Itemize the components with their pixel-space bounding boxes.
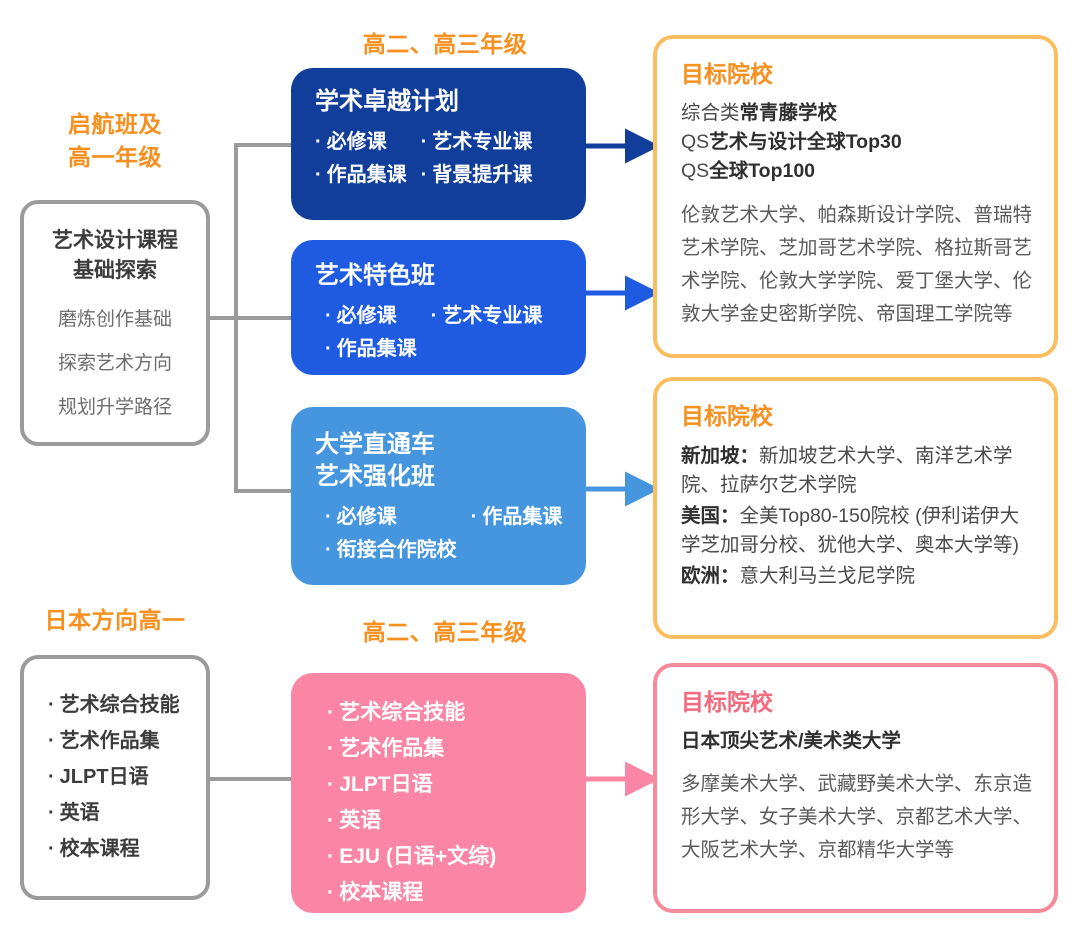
region-label: 欧洲：	[681, 565, 740, 587]
tier-strong: 艺术与设计全球Top30	[709, 131, 901, 153]
list-item: 艺术作品集	[48, 723, 206, 759]
tier-plain: QS	[681, 160, 709, 182]
program-title: 学术卓越计划	[315, 86, 586, 118]
list-item: 艺术综合技能	[48, 687, 206, 723]
target-panel-2[interactable]: 目标院校 新加坡：新加坡艺术大学、南洋艺术学院、拉萨尔艺术学院 美国：全美Top…	[653, 377, 1058, 639]
tier-plain: 综合类	[681, 102, 740, 124]
region-row: 欧洲：意大利马兰戈尼学院	[681, 562, 1032, 591]
program-course-list: 必修课 艺术专业课 作品集课 背景提升课	[315, 126, 586, 192]
list-item: JLPT日语	[48, 759, 206, 795]
course-item: 背景提升课	[421, 159, 533, 192]
foundation-point-0: 磨炼创作基础	[34, 298, 196, 342]
program-title: 艺术特色班	[315, 260, 586, 292]
target-tier-list: 综合类常青藤学校 QS艺术与设计全球Top30 QS全球Top100	[681, 99, 1032, 186]
region-row: 新加坡：新加坡艺术大学、南洋艺术学院、拉萨尔艺术学院	[681, 442, 1032, 500]
course-item: 衔接合作院校	[325, 534, 457, 567]
course-item: 必修课	[315, 126, 407, 159]
region-row: 美国：全美Top80-150院校 (伊利诺伊大学芝加哥分校、犹他大学、奥本大学等…	[681, 502, 1032, 560]
target-schools: 伦敦艺术大学、帕森斯设计学院、普瑞特艺术学院、芝加哥艺术学院、格拉斯哥艺术学院、…	[681, 199, 1032, 331]
list-item: 英语	[48, 795, 206, 831]
tier-row: QS艺术与设计全球Top30	[681, 128, 1032, 157]
course-item: 作品集课	[471, 501, 563, 534]
tier-row: QS全球Top100	[681, 157, 1032, 186]
japan-foundation-list: 艺术综合技能 艺术作品集 JLPT日语 英语 校本课程	[48, 687, 206, 867]
course-item: 必修课	[325, 501, 457, 534]
japan-program-list: 艺术综合技能 艺术作品集 JLPT日语 英语 EJU (日语+文综) 校本课程	[327, 695, 586, 911]
program-course-list: 必修课 作品集课 衔接合作院校	[315, 501, 586, 567]
region-text: 意大利马兰戈尼学院	[740, 565, 916, 587]
target-heading: 目标院校	[681, 401, 1032, 431]
tier-plain: QS	[681, 131, 709, 153]
stage-label-left-top: 启航班及 高一年级	[20, 108, 210, 174]
program-course-list: 必修课 艺术专业课 作品集课	[315, 300, 586, 366]
target-heading: 目标院校	[681, 59, 1032, 89]
foundation-title: 艺术设计课程 基础探索	[34, 226, 196, 286]
target-region-list: 新加坡：新加坡艺术大学、南洋艺术学院、拉萨尔艺术学院 美国：全美Top80-15…	[681, 442, 1032, 591]
list-item: 艺术作品集	[327, 731, 586, 767]
target-subtitle: 日本顶尖艺术/美术类大学	[681, 727, 1032, 756]
target-panel-3[interactable]: 目标院校 日本顶尖艺术/美术类大学 多摩美术大学、武藏野美术大学、东京造形大学、…	[653, 663, 1058, 913]
program-card-academic[interactable]: 学术卓越计划 必修课 艺术专业课 作品集课 背景提升课	[291, 68, 586, 220]
connector-branch-academic	[234, 143, 292, 147]
connector-japan-link	[205, 777, 295, 781]
list-item: 艺术综合技能	[327, 695, 586, 731]
target-panel-1[interactable]: 目标院校 综合类常青藤学校 QS艺术与设计全球Top30 QS全球Top100 …	[653, 35, 1058, 358]
stage-label-mid-top: 高二、高三年级	[295, 28, 595, 61]
list-item: 校本课程	[327, 875, 586, 911]
program-title: 大学直通车 艺术强化班	[315, 429, 586, 493]
course-item: 艺术专业课	[421, 126, 533, 159]
course-item: 艺术专业课	[431, 300, 543, 333]
region-label: 新加坡：	[681, 445, 759, 467]
tier-row: 综合类常青藤学校	[681, 99, 1032, 128]
connector-branch-featured	[234, 316, 292, 320]
tier-strong: 常青藤学校	[740, 102, 838, 124]
list-item: 校本课程	[48, 831, 206, 867]
stage-label-left-bottom: 日本方向高一	[20, 604, 210, 637]
course-item: 作品集课	[315, 159, 407, 192]
foundation-point-1: 探索艺术方向	[34, 342, 196, 386]
tier-strong: 全球Top100	[709, 160, 815, 182]
foundation-card[interactable]: 艺术设计课程 基础探索 磨炼创作基础 探索艺术方向 规划升学路径	[20, 200, 210, 446]
course-item: 必修课	[325, 300, 417, 333]
connector-branch-express	[234, 489, 292, 493]
program-card-express[interactable]: 大学直通车 艺术强化班 必修课 作品集课 衔接合作院校	[291, 407, 586, 585]
course-item: 作品集课	[325, 333, 417, 366]
list-item: EJU (日语+文综)	[327, 839, 586, 875]
program-card-featured[interactable]: 艺术特色班 必修课 艺术专业课 作品集课	[291, 240, 586, 375]
stage-label-mid-bottom: 高二、高三年级	[295, 616, 595, 649]
list-item: 英语	[327, 803, 586, 839]
target-heading: 目标院校	[681, 687, 1032, 717]
diagram-canvas: 启航班及 高一年级 高二、高三年级 日本方向高一 高二、高三年级	[0, 0, 1080, 926]
program-card-japan[interactable]: 艺术综合技能 艺术作品集 JLPT日语 英语 EJU (日语+文综) 校本课程	[291, 673, 586, 913]
target-schools: 多摩美术大学、武藏野美术大学、东京造形大学、女子美术大学、京都艺术大学、大阪艺术…	[681, 768, 1032, 867]
japan-foundation-card[interactable]: 艺术综合技能 艺术作品集 JLPT日语 英语 校本课程	[20, 655, 210, 900]
list-item: JLPT日语	[327, 767, 586, 803]
region-label: 美国：	[681, 505, 740, 527]
foundation-point-2: 规划升学路径	[34, 386, 196, 430]
